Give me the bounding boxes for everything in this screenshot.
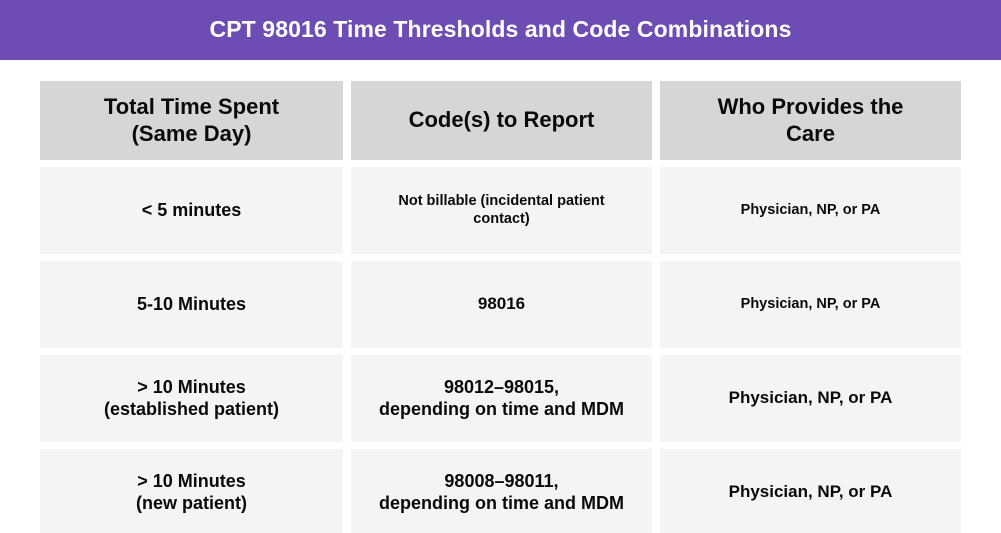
table-row: > 10 Minutes (new patient) 98008–98011, …: [40, 449, 961, 533]
column-header-total-time-spent: Total Time Spent (Same Day): [40, 81, 343, 160]
table-body: Total Time Spent (Same Day) Code(s) to R…: [40, 81, 961, 533]
column-header-who-provides-the-care: Who Provides the Care: [660, 81, 961, 160]
title-banner: CPT 98016 Time Thresholds and Code Combi…: [0, 0, 1001, 60]
cell-provider-row-1: Physician, NP, or PA: [660, 167, 961, 254]
page-title: CPT 98016 Time Thresholds and Code Combi…: [210, 17, 792, 42]
cell-provider-row-4: Physician, NP, or PA: [660, 449, 961, 533]
cell-codes-row-3: 98012–98015, depending on time and MDM: [351, 355, 652, 442]
cell-codes-row-1: Not billable (incidental patient contact…: [351, 167, 652, 254]
cell-provider-row-2: Physician, NP, or PA: [660, 261, 961, 348]
cell-time-row-2: 5-10 Minutes: [40, 261, 343, 348]
cell-time-row-3: > 10 Minutes (established patient): [40, 355, 343, 442]
table-header-row: Total Time Spent (Same Day) Code(s) to R…: [40, 81, 961, 160]
table-row: < 5 minutes Not billable (incidental pat…: [40, 167, 961, 254]
cell-time-row-4: > 10 Minutes (new patient): [40, 449, 343, 533]
cell-codes-row-2: 98016: [351, 261, 652, 348]
table-row: > 10 Minutes (established patient) 98012…: [40, 355, 961, 442]
cell-time-row-1: < 5 minutes: [40, 167, 343, 254]
column-header-codes-to-report: Code(s) to Report: [351, 81, 652, 160]
cell-provider-row-3: Physician, NP, or PA: [660, 355, 961, 442]
table-row: 5-10 Minutes 98016 Physician, NP, or PA: [40, 261, 961, 348]
cpt-time-threshold-table: Total Time Spent (Same Day) Code(s) to R…: [40, 81, 961, 533]
cell-codes-row-4: 98008–98011, depending on time and MDM: [351, 449, 652, 533]
page-root: CPT 98016 Time Thresholds and Code Combi…: [0, 0, 1001, 533]
